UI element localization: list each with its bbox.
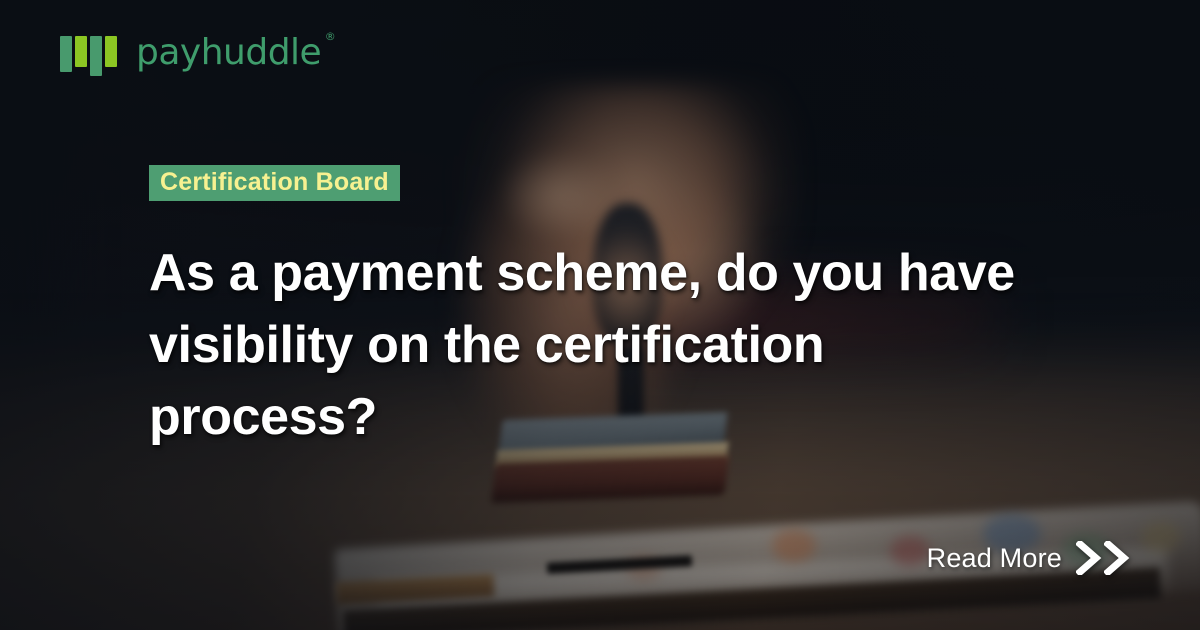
social-share-card: payhuddle ® Certification Board As a pay…: [0, 0, 1200, 630]
brand-wordmark: payhuddle ®: [136, 35, 321, 71]
category-badge: Certification Board: [149, 165, 400, 201]
payhuddle-bars-icon: [60, 30, 122, 76]
double-chevron-right-icon: [1076, 541, 1130, 575]
card-content: payhuddle ® Certification Board As a pay…: [0, 0, 1200, 630]
read-more-button[interactable]: Read More: [927, 541, 1130, 575]
registered-trademark-icon: ®: [325, 31, 336, 42]
read-more-label: Read More: [927, 543, 1062, 574]
brand-logo[interactable]: payhuddle ®: [60, 30, 321, 76]
logo-bar-3: [90, 36, 102, 76]
logo-bar-4: [105, 36, 117, 67]
logo-bar-2: [75, 36, 87, 67]
brand-name: payhuddle: [136, 32, 321, 73]
headline: As a payment scheme, do you have visibil…: [149, 238, 1049, 453]
logo-bar-1: [60, 36, 72, 72]
